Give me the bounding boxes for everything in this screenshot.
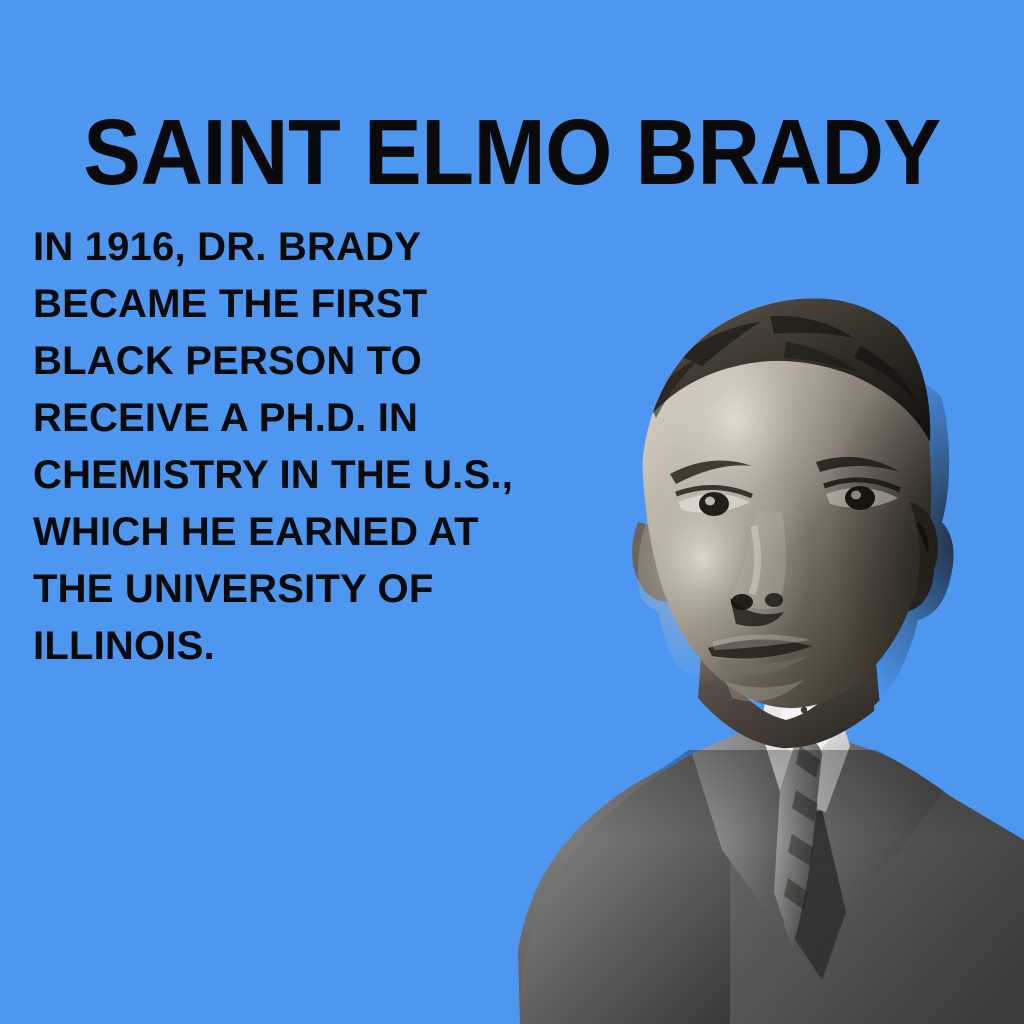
info-graphic-card: SAINT ELMO BRADY IN 1916, DR. BRADY BECA… (0, 0, 1024, 1024)
body-line: BECAME THE FIRST (33, 276, 573, 333)
body-line: IN 1916, DR. BRADY (33, 219, 573, 276)
body-line: THE UNIVERSITY OF (33, 561, 573, 618)
body-line: CHEMISTRY IN THE U.S., (33, 447, 573, 504)
body-paragraph: IN 1916, DR. BRADY BECAME THE FIRST BLAC… (33, 219, 573, 675)
page-title: SAINT ELMO BRADY (36, 106, 988, 199)
body-line: WHICH HE EARNED AT (33, 504, 573, 561)
body-line: BLACK PERSON TO (33, 333, 573, 390)
body-line: RECEIVE A PH.D. IN (33, 390, 573, 447)
body-line: ILLINOIS. (33, 618, 573, 675)
